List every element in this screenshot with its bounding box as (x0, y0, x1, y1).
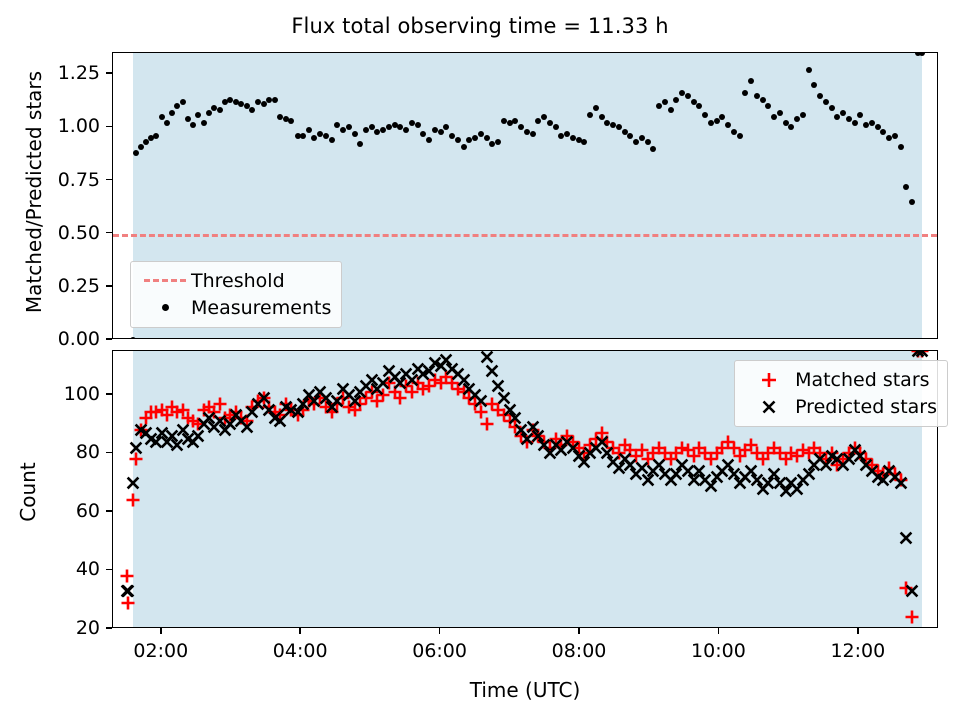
legend-item-matched-stars: Matched stars (743, 366, 937, 393)
x-tick-label: 08:00 (552, 640, 607, 662)
measurement-point (599, 114, 605, 120)
bottom-y-tick-mark (106, 452, 112, 454)
measurement-point (518, 124, 524, 130)
measurement-point (788, 124, 794, 130)
x-tick-label: 02:00 (133, 640, 188, 662)
bottom-y-tick-mark (106, 510, 112, 512)
legend-label-matched-stars: Matched stars (795, 369, 929, 391)
measurement-point (685, 93, 691, 99)
measurement-point (185, 116, 191, 122)
dashed-line-key-icon (139, 279, 191, 282)
x-tick-mark (160, 628, 162, 634)
measurement-point (679, 90, 685, 96)
top-y-tick-mark (106, 285, 112, 287)
x-tick-mark (578, 628, 580, 634)
measurement-point (261, 101, 267, 107)
measurement-point (143, 139, 149, 145)
measurement-point (581, 139, 587, 145)
measurement-point (201, 120, 207, 126)
measurement-point (616, 124, 622, 130)
top-y-tick-mark (106, 72, 112, 74)
x-tick-label: 10:00 (691, 640, 746, 662)
measurement-point (673, 97, 679, 103)
measurement-point (834, 114, 840, 120)
measurement-point (217, 107, 223, 113)
measurement-point (823, 99, 829, 105)
measurement-point (300, 133, 306, 139)
top-y-axis-label: Matched/Predicted stars (22, 52, 46, 332)
measurement-point (306, 127, 312, 133)
measurement-point (438, 129, 444, 135)
top-y-tick-label: 1.00 (0, 115, 100, 137)
measurement-point (748, 78, 754, 84)
top-legend: Threshold Measurements (130, 261, 342, 328)
measurement-point (702, 112, 708, 118)
x-tick-mark (857, 628, 859, 634)
measurement-point (863, 122, 869, 128)
measurement-point (311, 135, 317, 141)
measurement-point (903, 184, 909, 190)
bottom-y-tick-label: 40 (0, 558, 100, 580)
measurement-point (610, 122, 616, 128)
measurement-point (765, 103, 771, 109)
legend-label-predicted-stars: Predicted stars (795, 396, 937, 418)
legend-item-threshold: Threshold (139, 267, 331, 294)
measurement-point (777, 110, 783, 116)
measurement-point (159, 114, 165, 120)
top-y-tick-label: 0.25 (0, 275, 100, 297)
top-y-tick-label: 1.25 (0, 62, 100, 84)
measurement-point (195, 112, 201, 118)
measurement-point (138, 144, 144, 150)
legend-label-measurements: Measurements (191, 297, 331, 319)
measurement-point (443, 124, 449, 130)
measurement-point (892, 133, 898, 139)
measurement-point (627, 133, 633, 139)
measurement-point (898, 144, 904, 150)
measurement-point (633, 139, 639, 145)
measurement-point (593, 105, 599, 111)
measurement-point (742, 90, 748, 96)
measurement-point (811, 82, 817, 88)
measurement-point (346, 124, 352, 130)
measurement-point (164, 120, 170, 126)
measurement-point (852, 120, 858, 126)
measurement-point (415, 122, 421, 128)
measurement-point (645, 139, 651, 145)
measurement-point (420, 131, 426, 137)
top-y-tick-label: 0.00 (0, 328, 100, 350)
measurement-point (288, 118, 294, 124)
measurement-point (374, 129, 380, 135)
measurement-point (190, 122, 196, 128)
measurement-point (329, 137, 335, 143)
top-y-tick-label: 0.75 (0, 169, 100, 191)
measurement-point (484, 135, 490, 141)
measurement-point (461, 144, 467, 150)
bottom-legend: Matched stars Predicted stars (734, 360, 948, 427)
measurement-point (886, 135, 892, 141)
page-title: Flux total observing time = 11.33 h (0, 14, 960, 38)
bottom-y-axis-label: Count (16, 402, 40, 582)
x-tick-mark (718, 628, 720, 634)
figure-canvas: Flux total observing time = 11.33 h 0.00… (0, 0, 960, 720)
x-tick-label: 06:00 (412, 640, 467, 662)
measurement-point (564, 131, 570, 137)
measurement-point (846, 116, 852, 122)
x-tick-mark (439, 628, 441, 634)
top-y-tick-mark (106, 338, 112, 340)
measurement-point (553, 124, 559, 130)
measurement-point (880, 129, 886, 135)
measurement-point (731, 129, 737, 135)
measurement-point (478, 131, 484, 137)
measurement-point (174, 103, 180, 109)
measurement-point (662, 99, 668, 105)
measurement-point (512, 118, 518, 124)
measurement-point (754, 93, 760, 99)
bottom-y-tick-mark (106, 393, 112, 395)
legend-item-predicted-stars: Predicted stars (743, 393, 937, 420)
measurement-point (357, 141, 363, 147)
measurement-point (817, 93, 823, 99)
top-y-tick-mark (106, 232, 112, 234)
measurement-point (495, 139, 501, 145)
legend-item-measurements: Measurements (139, 294, 331, 321)
measurement-point (587, 112, 593, 118)
bottom-y-tick-mark (106, 569, 112, 571)
legend-label-threshold: Threshold (191, 270, 285, 292)
measurement-point (541, 114, 547, 120)
top-y-tick-mark (106, 179, 112, 181)
measurement-point (133, 150, 139, 156)
x-tick-label: 04:00 (273, 640, 328, 662)
measurement-point (449, 133, 455, 139)
measurement-point (455, 137, 461, 143)
bottom-y-tick-label: 60 (0, 500, 100, 522)
measurement-point (352, 131, 358, 137)
x-tick-label: 12:00 (830, 640, 885, 662)
measurement-point (840, 110, 846, 116)
measurement-point (530, 131, 536, 137)
measurement-point (829, 105, 835, 111)
measurement-point (535, 118, 541, 124)
measurement-point (249, 107, 255, 113)
plus-key-icon (743, 370, 795, 390)
measurement-point (272, 97, 278, 103)
measurement-point (771, 114, 777, 120)
measurement-point (472, 135, 478, 141)
cross-key-icon (743, 397, 795, 417)
measurement-point (806, 67, 812, 73)
bottom-y-tick-label: 100 (0, 383, 100, 405)
measurement-point (919, 52, 925, 56)
measurement-point (857, 112, 863, 118)
measurement-point (656, 103, 662, 109)
measurement-point (426, 137, 432, 143)
dot-key-icon (139, 304, 191, 311)
measurement-point (719, 114, 725, 120)
measurement-point (737, 133, 743, 139)
x-tick-mark (299, 628, 301, 634)
measurement-point (130, 337, 136, 339)
measurement-point (403, 127, 409, 133)
measurement-point (169, 110, 175, 116)
measurement-point (696, 103, 702, 109)
measurement-point (760, 97, 766, 103)
bottom-y-tick-label: 20 (0, 617, 100, 639)
bottom-y-tick-mark (106, 627, 112, 629)
measurement-point (317, 131, 323, 137)
measurement-point (668, 107, 674, 113)
measurement-point (153, 133, 159, 139)
top-y-tick-label: 0.50 (0, 222, 100, 244)
measurement-point (180, 99, 186, 105)
measurement-point (725, 122, 731, 128)
measurement-point (909, 199, 915, 205)
bottom-y-tick-label: 80 (0, 441, 100, 463)
top-y-tick-mark (106, 126, 112, 128)
x-axis-label: Time (UTC) (112, 678, 938, 702)
measurement-point (794, 116, 800, 122)
measurement-point (650, 146, 656, 152)
measurement-point (800, 112, 806, 118)
